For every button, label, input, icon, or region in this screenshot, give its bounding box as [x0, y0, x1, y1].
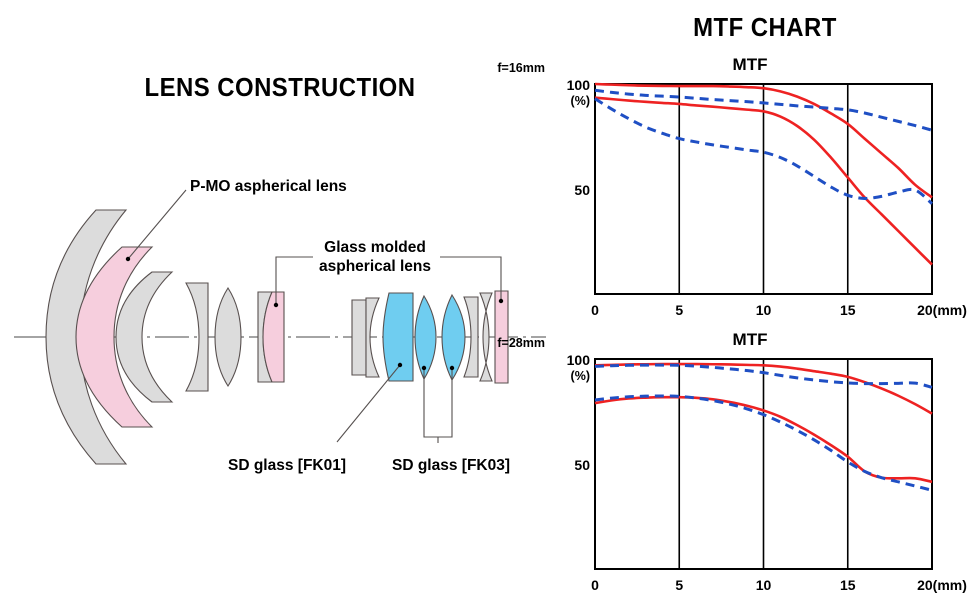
- annotation-glass-molded-label-2: aspherical lens: [319, 258, 431, 275]
- annotation-glass-molded-label-1: Glass molded: [324, 239, 426, 256]
- y-tick-label-50: 50: [574, 457, 590, 473]
- x-tick-label-10: 10: [756, 577, 772, 593]
- y-tick-label-100: 100: [567, 352, 591, 368]
- x-tick-label-5: 5: [675, 302, 683, 318]
- mtf-chart-panel: MTF CHART MTF f=16mm 10050(%)05101520(mm…: [560, 0, 970, 600]
- x-tick-label-5: 5: [675, 577, 683, 593]
- y-tick-label-50: 50: [574, 182, 590, 198]
- lens-construction-diagram: .gl { stroke:#58504f; stroke-width:1.1; …: [0, 0, 560, 600]
- leader-line-fk03-bracket: [424, 368, 452, 437]
- x-tick-label-15: 15: [840, 302, 856, 318]
- x-tick-label-15: 15: [840, 577, 856, 593]
- x-tick-label-0: 0: [591, 302, 599, 318]
- mtf-chart-title: MTF CHART: [576, 12, 953, 43]
- leader-line-pmo: [128, 190, 186, 259]
- callout-dot-fk01: [398, 363, 402, 367]
- callout-dot-pmo: [126, 257, 130, 261]
- callout-dot-fk03-a: [422, 366, 426, 370]
- x-tick-label-20: 20(mm): [917, 577, 967, 593]
- annotation-fk03-label: SD glass [FK03]: [392, 457, 510, 474]
- y-axis-unit-label: (%): [571, 369, 590, 383]
- annotation-fk01-label: SD glass [FK01]: [228, 457, 346, 474]
- lens-construction-panel: LENS CONSTRUCTION .gl { stroke:#58504f; …: [0, 0, 560, 600]
- chart-16mm-plot: 10050(%)05101520(mm): [560, 55, 970, 325]
- callout-dot-glass-molded-left: [274, 303, 278, 307]
- callout-dot-glass-molded-right: [499, 299, 503, 303]
- chart-28mm-plot: 10050(%)05101520(mm): [560, 330, 970, 600]
- chart-16mm-focal-label: f=16mm: [497, 61, 545, 75]
- lens-element-5: [215, 288, 241, 386]
- x-tick-label-0: 0: [591, 577, 599, 593]
- y-tick-label-100: 100: [567, 77, 591, 93]
- chart-28mm-focal-label: f=28mm: [497, 336, 545, 350]
- callout-dot-fk03-b: [450, 366, 454, 370]
- x-tick-label-20: 20(mm): [917, 302, 967, 318]
- annotation-pmo-label: P-MO aspherical lens: [190, 178, 347, 195]
- lens-element-7: [352, 300, 366, 375]
- x-tick-label-10: 10: [756, 302, 772, 318]
- y-axis-unit-label: (%): [571, 94, 590, 108]
